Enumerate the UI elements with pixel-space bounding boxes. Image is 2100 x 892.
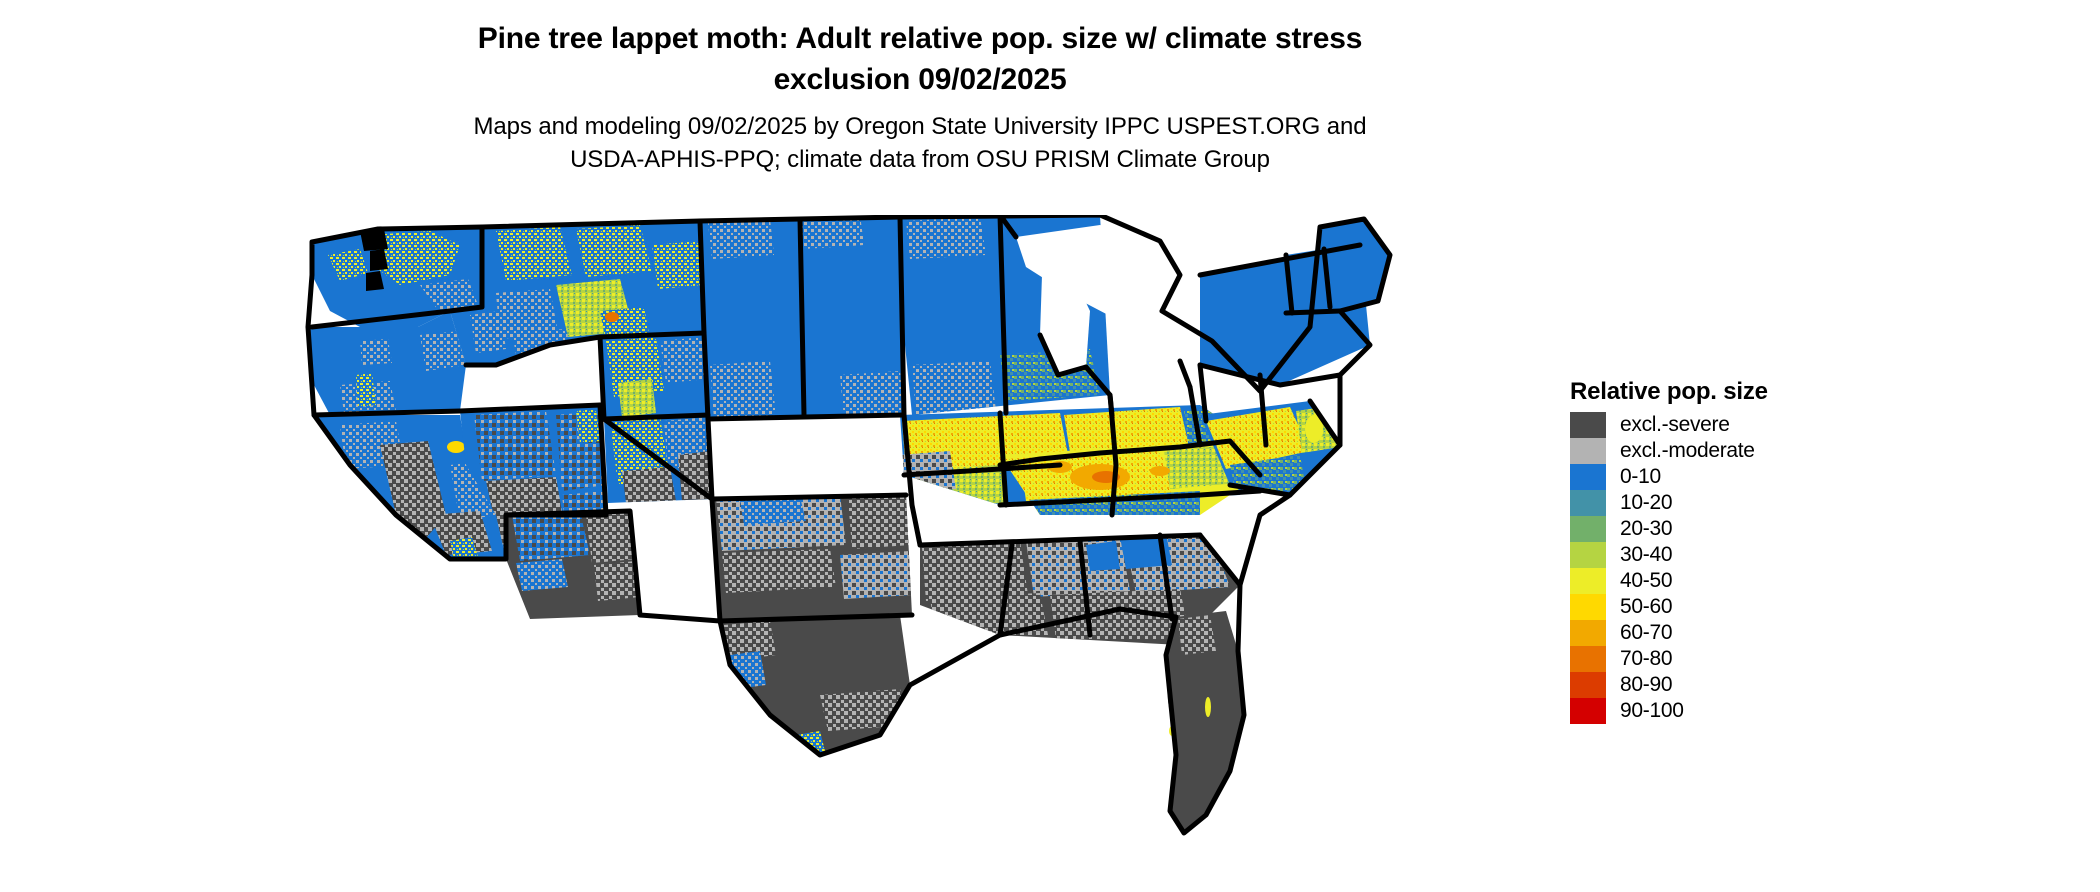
region-southwest-desert[interactable] [506, 511, 640, 619]
legend-color-swatch [1570, 646, 1606, 672]
subtitle-line-2: USDA-APHIS-PPQ; climate data from OSU PR… [0, 143, 1840, 176]
legend-rows: excl.-severeexcl.-moderate0-1010-2020-30… [1570, 412, 1900, 724]
legend-color-swatch [1570, 672, 1606, 698]
legend-item[interactable]: excl.-moderate [1570, 438, 1900, 464]
united-states-map[interactable] [300, 215, 1570, 892]
legend-color-swatch [1570, 516, 1606, 542]
legend-color-swatch [1570, 594, 1606, 620]
legend-item[interactable]: 40-50 [1570, 568, 1900, 594]
legend-color-swatch [1570, 412, 1606, 438]
legend-title: Relative pop. size [1570, 378, 1900, 406]
legend-color-swatch [1570, 542, 1606, 568]
legend-item[interactable]: 10-20 [1570, 490, 1900, 516]
region-florida[interactable] [1166, 611, 1244, 833]
legend-item-label: 10-20 [1620, 490, 1672, 516]
legend-item[interactable]: 90-100 [1570, 698, 1900, 724]
legend-color-swatch [1570, 620, 1606, 646]
subtitle-line-1: Maps and modeling 09/02/2025 by Oregon S… [0, 110, 1840, 143]
legend-color-swatch [1570, 464, 1606, 490]
legend-item-label: 20-30 [1620, 516, 1672, 542]
legend: Relative pop. size excl.-severeexcl.-mod… [1570, 378, 1900, 724]
legend-item-label: excl.-moderate [1620, 438, 1755, 464]
legend-item[interactable]: 30-40 [1570, 542, 1900, 568]
legend-item[interactable]: 20-30 [1570, 516, 1900, 542]
legend-item[interactable]: 0-10 [1570, 464, 1900, 490]
legend-item[interactable]: 70-80 [1570, 646, 1900, 672]
legend-item-label: excl.-severe [1620, 412, 1730, 438]
page-title-line-1: Pine tree lappet moth: Adult relative po… [0, 18, 1840, 59]
legend-color-swatch [1570, 568, 1606, 594]
legend-color-swatch [1570, 490, 1606, 516]
legend-item-label: 30-40 [1620, 542, 1672, 568]
legend-item[interactable]: excl.-severe [1570, 412, 1900, 438]
legend-item-label: 90-100 [1620, 698, 1684, 724]
legend-item-label: 0-10 [1620, 464, 1661, 490]
page-title-line-2: exclusion 09/02/2025 [0, 59, 1840, 100]
legend-item[interactable]: 60-70 [1570, 620, 1900, 646]
legend-color-swatch [1570, 698, 1606, 724]
legend-item-label: 50-60 [1620, 594, 1672, 620]
legend-color-swatch [1570, 438, 1606, 464]
legend-item-label: 40-50 [1620, 568, 1672, 594]
legend-item-label: 80-90 [1620, 672, 1672, 698]
region-southern-plains[interactable] [712, 493, 912, 621]
legend-item-label: 70-80 [1620, 646, 1672, 672]
title-block: Pine tree lappet moth: Adult relative po… [0, 0, 1840, 176]
region-wyoming[interactable] [600, 333, 708, 419]
subtitle-block: Maps and modeling 09/02/2025 by Oregon S… [0, 110, 1840, 176]
legend-item[interactable]: 50-60 [1570, 594, 1900, 620]
legend-item-label: 60-70 [1620, 620, 1672, 646]
map-container[interactable] [300, 215, 1570, 892]
legend-item[interactable]: 80-90 [1570, 672, 1900, 698]
